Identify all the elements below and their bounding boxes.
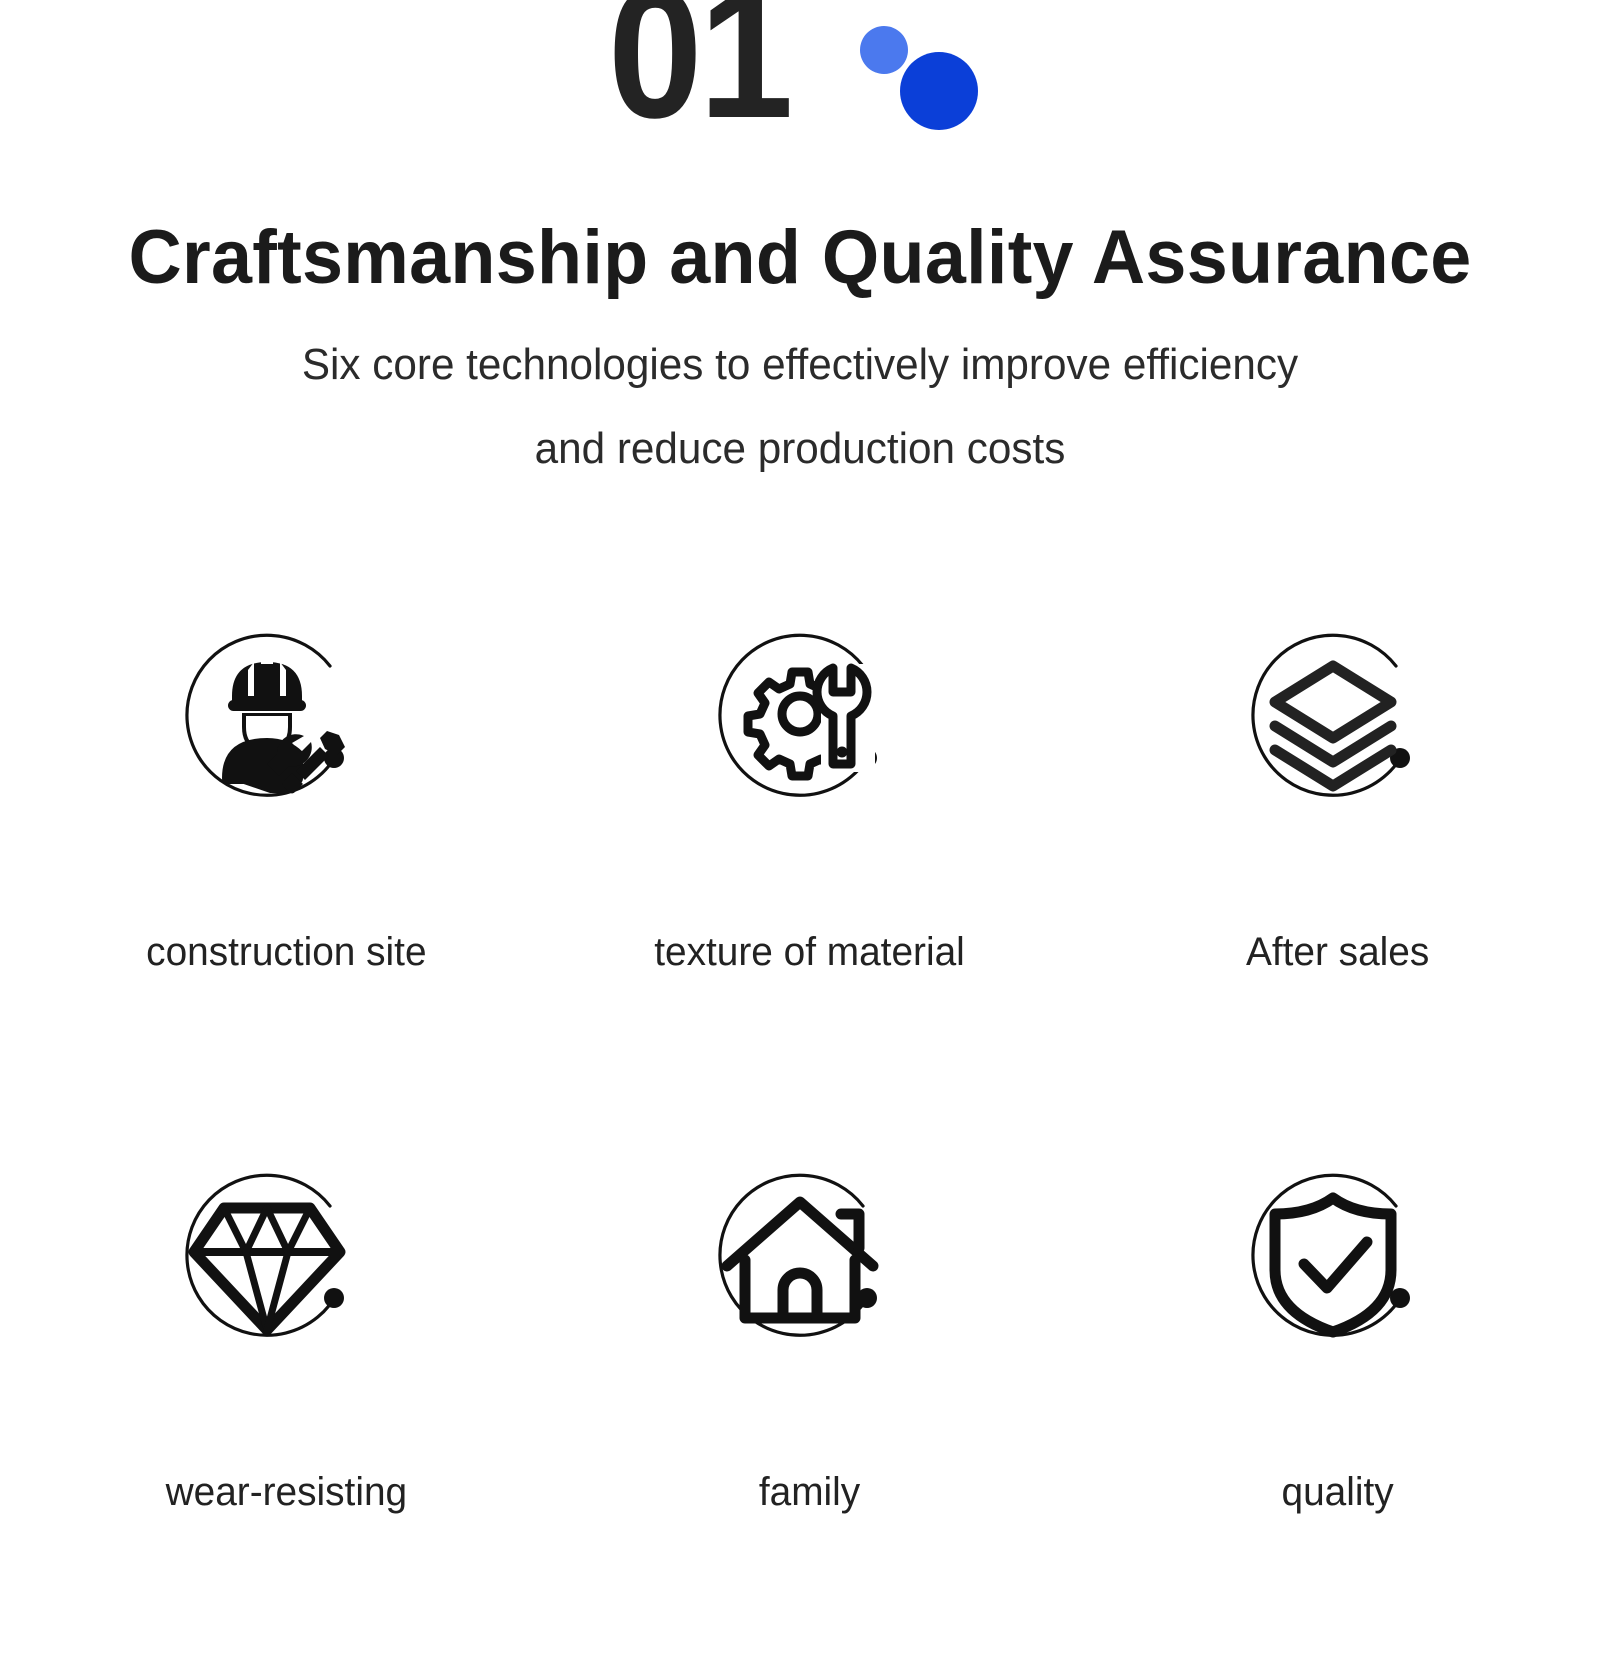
feature-label: quality — [1075, 1470, 1596, 1515]
feature-label: family — [541, 1470, 1068, 1515]
feature-item-after-sales[interactable]: After sales — [1067, 580, 1600, 1120]
feature-label: After sales — [1075, 930, 1596, 975]
dot-small-icon — [860, 26, 908, 74]
diamond-gem-icon — [162, 1150, 372, 1360]
feature-item-texture-of-material[interactable]: texture of material — [533, 580, 1066, 1120]
house-home-icon — [695, 1150, 905, 1360]
shield-check-icon — [1228, 1150, 1438, 1360]
feature-item-wear-resisting[interactable]: wear-resisting — [0, 1120, 533, 1660]
decorative-dots — [850, 0, 1000, 144]
feature-item-construction-site[interactable]: construction site — [0, 580, 533, 1120]
feature-item-quality[interactable]: quality — [1067, 1120, 1600, 1660]
header-banner: 01 — [0, 0, 1600, 200]
feature-label: wear-resisting — [8, 1470, 545, 1515]
subtitle-line-1: Six core technologies to effectively imp… — [32, 323, 1568, 407]
layers-stack-icon — [1228, 610, 1438, 820]
page-subtitle: Six core technologies to effectively imp… — [32, 323, 1568, 490]
feature-label: construction site — [8, 930, 545, 975]
step-number-block: 01 — [0, 0, 1600, 147]
gear-wrench-icon — [695, 610, 905, 820]
subtitle-line-2: and reduce production costs — [32, 407, 1568, 491]
dot-large-icon — [900, 52, 978, 130]
worker-helmet-wrench-icon — [162, 610, 372, 820]
page-title: Craftsmanship and Quality Assurance — [24, 214, 1576, 301]
feature-label: texture of material — [541, 930, 1068, 975]
step-number: 01 — [608, 0, 790, 147]
feature-grid: construction site texture of material — [0, 580, 1600, 1660]
feature-item-family[interactable]: family — [533, 1120, 1066, 1660]
